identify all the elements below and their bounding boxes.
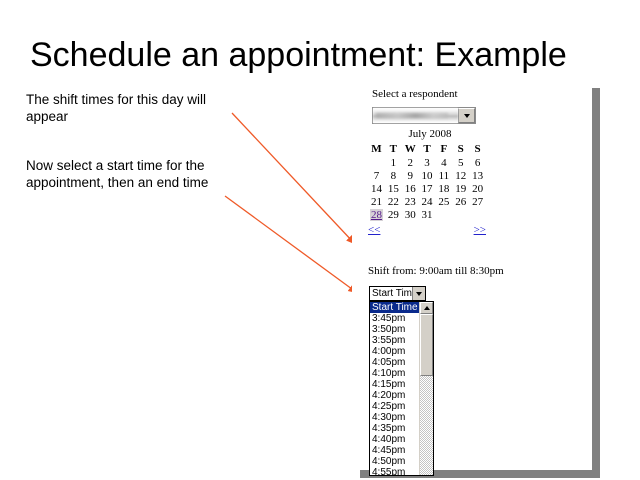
- calendar-day[interactable]: 19: [452, 182, 469, 195]
- calendar-weekday-sat: S: [452, 142, 469, 156]
- calendar-day[interactable]: 30: [402, 208, 419, 221]
- calendar-day-selected[interactable]: 28: [368, 208, 385, 221]
- calendar-navigation: << >>: [368, 224, 486, 240]
- calendar-week-row: 21 22 23 24 25 26 27: [368, 195, 486, 208]
- calendar-day[interactable]: 24: [419, 195, 436, 208]
- calendar-day[interactable]: 6: [469, 156, 486, 169]
- calendar-day[interactable]: [469, 208, 486, 221]
- chevron-down-glyph: [416, 292, 422, 296]
- start-time-option-container: Start Time 3:45pm 3:50pm 3:55pm 4:00pm 4…: [370, 302, 419, 475]
- calendar-weekday-mon: M: [368, 142, 385, 156]
- calendar-day[interactable]: [452, 208, 469, 221]
- calendar-weekday-fri: F: [435, 142, 452, 156]
- calendar-week-row: 14 15 16 17 18 19 20: [368, 182, 486, 195]
- dropdown-scrollbar[interactable]: [419, 302, 433, 475]
- start-time-select[interactable]: Start Time: [369, 286, 426, 301]
- list-item[interactable]: Start Time: [370, 302, 419, 313]
- calendar-day[interactable]: 4: [435, 156, 452, 169]
- calendar-weekday-thu: T: [419, 142, 436, 156]
- calendar-day[interactable]: 31: [419, 208, 436, 221]
- page-title: Schedule an appointment: Example: [30, 36, 610, 75]
- calendar-day[interactable]: 2: [402, 156, 419, 169]
- panel-shadow-right: [592, 88, 600, 470]
- list-item[interactable]: 4:00pm: [370, 346, 419, 357]
- chevron-down-icon[interactable]: [412, 287, 425, 300]
- calendar-day[interactable]: 22: [385, 195, 402, 208]
- calendar-day[interactable]: 17: [419, 182, 436, 195]
- arrow-to-calendar: [232, 113, 354, 243]
- respondent-select[interactable]: [372, 107, 476, 124]
- calendar-header-row: M T W T F S S: [368, 142, 486, 156]
- list-item[interactable]: 4:30pm: [370, 412, 419, 423]
- calendar-day[interactable]: [368, 156, 385, 169]
- calendar-day[interactable]: 26: [452, 195, 469, 208]
- calendar-day[interactable]: 15: [385, 182, 402, 195]
- list-item[interactable]: 4:40pm: [370, 434, 419, 445]
- list-item[interactable]: 4:45pm: [370, 445, 419, 456]
- calendar-weekday-sun: S: [469, 142, 486, 156]
- calendar-day[interactable]: 27: [469, 195, 486, 208]
- chevron-up-glyph: [424, 306, 430, 310]
- calendar-day[interactable]: 10: [419, 169, 436, 182]
- embedded-screenshot-panel: Select a respondent July 2008 M T W T F …: [352, 84, 592, 470]
- list-item[interactable]: 4:55pm: [370, 467, 419, 475]
- chevron-up-icon[interactable]: [420, 302, 433, 314]
- list-item[interactable]: 3:45pm: [370, 313, 419, 324]
- calendar-widget[interactable]: July 2008 M T W T F S S 1 2 3: [368, 128, 492, 240]
- list-item[interactable]: 4:15pm: [370, 379, 419, 390]
- chevron-down-icon[interactable]: [458, 108, 475, 123]
- calendar-week-row: 1 2 3 4 5 6: [368, 156, 486, 169]
- calendar-day[interactable]: 7: [368, 169, 385, 182]
- list-item[interactable]: 4:05pm: [370, 357, 419, 368]
- list-item[interactable]: 3:50pm: [370, 324, 419, 335]
- respondent-selected-value: [373, 108, 458, 123]
- scrollbar-thumb[interactable]: [420, 314, 433, 376]
- calendar-day[interactable]: 20: [469, 182, 486, 195]
- calendar-day[interactable]: 23: [402, 195, 419, 208]
- annotation-shift-times: The shift times for this day will appear: [26, 91, 241, 125]
- calendar-weekday-wed: W: [402, 142, 419, 156]
- calendar-day[interactable]: 14: [368, 182, 385, 195]
- list-item[interactable]: 3:55pm: [370, 335, 419, 346]
- list-item[interactable]: 4:35pm: [370, 423, 419, 434]
- start-time-selected-value: Start Time: [370, 287, 412, 300]
- calendar-prev-month-link[interactable]: <<: [368, 224, 380, 236]
- calendar-day[interactable]: 11: [435, 169, 452, 182]
- calendar-day[interactable]: 16: [402, 182, 419, 195]
- calendar-day[interactable]: 8: [385, 169, 402, 182]
- calendar-week-row: 28 29 30 31: [368, 208, 486, 221]
- calendar-day[interactable]: [435, 208, 452, 221]
- calendar-day[interactable]: 1: [385, 156, 402, 169]
- shift-hours-text: Shift from: 9:00am till 8:30pm: [368, 265, 504, 277]
- list-item[interactable]: 4:20pm: [370, 390, 419, 401]
- calendar-month-caption: July 2008: [368, 128, 492, 142]
- arrow-to-start-time: [225, 196, 356, 292]
- calendar-day[interactable]: 18: [435, 182, 452, 195]
- calendar-table: M T W T F S S 1 2 3 4 5 6: [368, 142, 486, 221]
- calendar-weekday-tue: T: [385, 142, 402, 156]
- respondent-label: Select a respondent: [372, 88, 458, 100]
- chevron-down-glyph: [464, 114, 470, 118]
- calendar-day[interactable]: 12: [452, 169, 469, 182]
- annotation-select-start-time: Now select a start time for the appointm…: [26, 157, 241, 191]
- calendar-next-month-link[interactable]: >>: [474, 224, 486, 236]
- calendar-day[interactable]: 3: [419, 156, 436, 169]
- start-time-dropdown-list[interactable]: Start Time 3:45pm 3:50pm 3:55pm 4:00pm 4…: [369, 301, 434, 476]
- calendar-day[interactable]: 21: [368, 195, 385, 208]
- calendar-day[interactable]: 29: [385, 208, 402, 221]
- calendar-day[interactable]: 9: [402, 169, 419, 182]
- calendar-week-row: 7 8 9 10 11 12 13: [368, 169, 486, 182]
- list-item[interactable]: 4:10pm: [370, 368, 419, 379]
- calendar-day-selected-link[interactable]: 28: [370, 209, 383, 221]
- list-item[interactable]: 4:25pm: [370, 401, 419, 412]
- list-item[interactable]: 4:50pm: [370, 456, 419, 467]
- calendar-day[interactable]: 25: [435, 195, 452, 208]
- calendar-day[interactable]: 5: [452, 156, 469, 169]
- calendar-day[interactable]: 13: [469, 169, 486, 182]
